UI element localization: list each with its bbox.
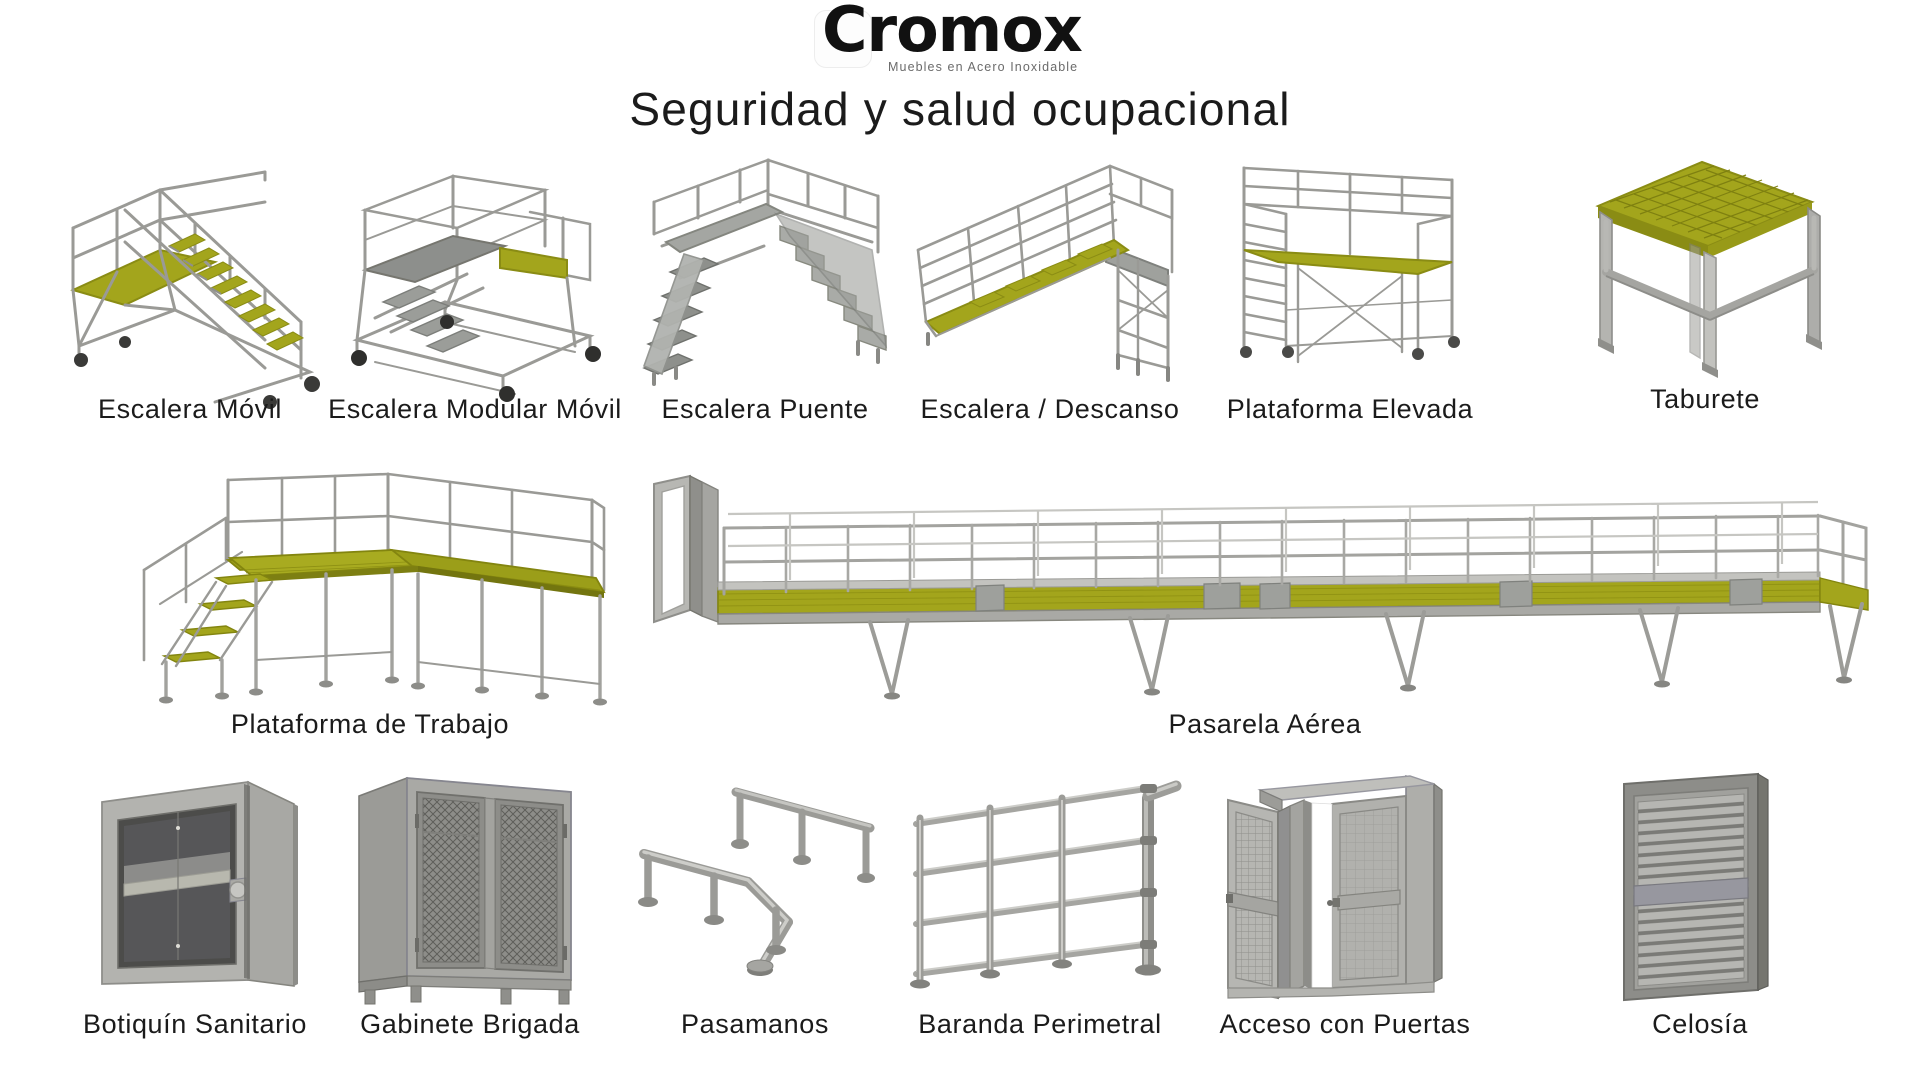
product-label: Taburete [1650,384,1760,415]
product-label: Plataforma de Trabajo [231,709,509,740]
product-label: Baranda Perimetral [918,1009,1161,1040]
product-image-pasarela-aerea [630,470,1900,705]
product-label: Pasarela Aérea [1168,709,1361,740]
product-label: Escalera Móvil [98,394,282,425]
product-card-pasarela-aerea[interactable]: Pasarela Aérea [630,470,1900,740]
product-label: Plataforma Elevada [1227,394,1473,425]
product-card-plataforma-elevada[interactable]: Plataforma Elevada [1205,150,1495,425]
product-card-celosia[interactable]: Celosía [1565,770,1835,1040]
product-row-1: Escalera Móvil [0,150,1920,470]
brand-name: Cromox [822,0,1082,61]
brand-tagline: Muebles en Acero Inoxidable [888,60,1078,74]
product-row-2: Plataforma de Trabajo [0,470,1920,770]
product-label: Botiquín Sanitario [83,1009,307,1040]
product-image-escalera-modular-movil [330,150,620,390]
product-image-taburete [1560,150,1850,380]
product-label: Escalera / Descanso [920,394,1179,425]
brand-logo: Cromox Muebles en Acero Inoxidable [810,8,1110,80]
product-image-escalera-descanso [905,150,1195,390]
product-image-baranda-perimetral [890,770,1190,1005]
product-label: Acceso con Puertas [1220,1009,1471,1040]
product-card-escalera-puente[interactable]: Escalera Puente [635,150,895,425]
product-card-escalera-movil[interactable]: Escalera Móvil [60,150,320,425]
product-image-escalera-puente [635,150,895,390]
product-label: Escalera Puente [661,394,868,425]
product-row-3: Botiquín Sanitario [0,770,1920,1070]
product-image-acceso-con-puertas [1195,770,1495,1005]
product-label: Celosía [1652,1009,1748,1040]
product-card-gabinete-brigada[interactable]: Gabinete Brigada [330,770,610,1040]
product-image-celosia [1565,770,1835,1005]
product-image-plataforma-de-trabajo [110,470,630,705]
product-card-escalera-descanso[interactable]: Escalera / Descanso [905,150,1195,425]
page-header: Cromox Muebles en Acero Inoxidable Segur… [0,0,1920,150]
product-image-gabinete-brigada [330,770,610,1005]
product-image-escalera-movil [60,150,320,390]
catalog-page: Cromox Muebles en Acero Inoxidable Segur… [0,0,1920,1080]
product-image-plataforma-elevada [1205,150,1495,390]
product-card-plataforma-de-trabajo[interactable]: Plataforma de Trabajo [110,470,630,740]
product-image-botiquin-sanitario [65,770,325,1005]
product-card-baranda-perimetral[interactable]: Baranda Perimetral [890,770,1190,1040]
product-card-acceso-con-puertas[interactable]: Acceso con Puertas [1195,770,1495,1040]
page-title: Seguridad y salud ocupacional [0,82,1920,136]
product-label: Escalera Modular Móvil [328,394,622,425]
product-image-pasamanos [620,770,890,1005]
product-card-botiquin-sanitario[interactable]: Botiquín Sanitario [65,770,325,1040]
product-label: Pasamanos [681,1009,829,1040]
product-card-escalera-modular-movil[interactable]: Escalera Modular Móvil [330,150,620,425]
product-label: Gabinete Brigada [360,1009,580,1040]
product-card-pasamanos[interactable]: Pasamanos [620,770,890,1040]
product-card-taburete[interactable]: Taburete [1560,150,1850,415]
